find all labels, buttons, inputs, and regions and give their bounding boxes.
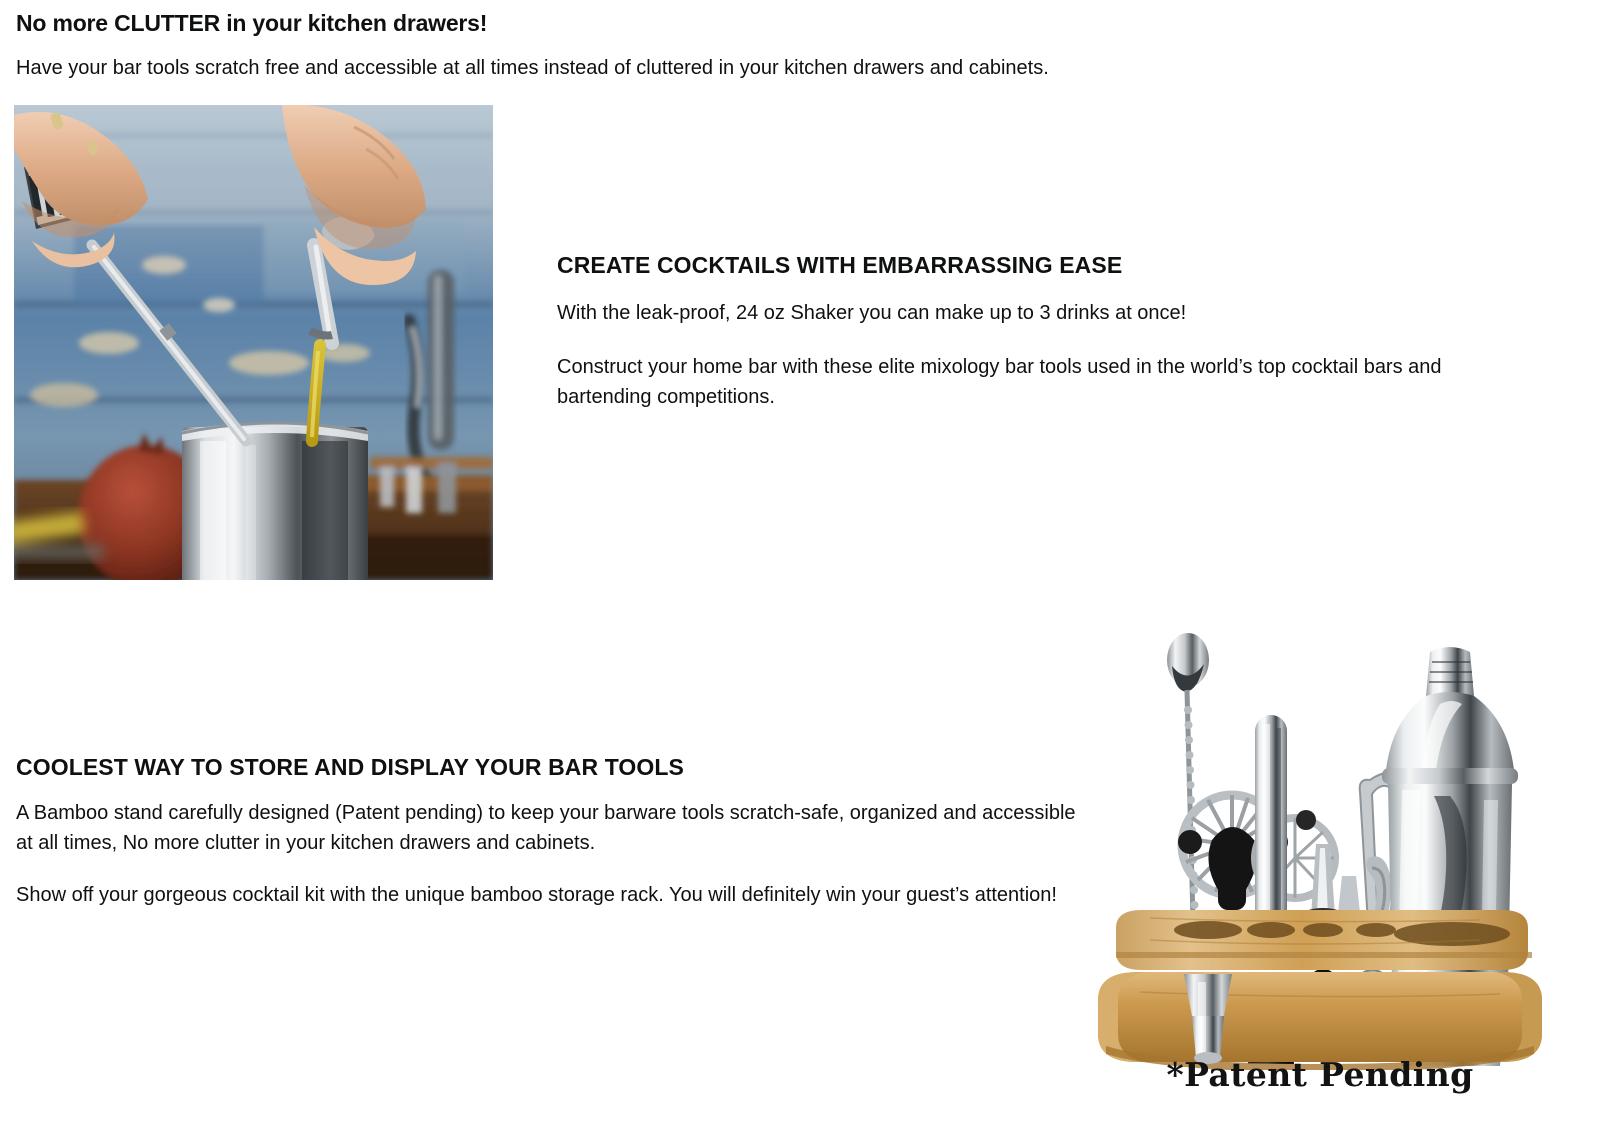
section-one-paragraph-1: With the leak-proof, 24 oz Shaker you ca… [557,298,1537,328]
page-subtitle: Have your bar tools scratch free and acc… [16,54,1049,82]
bartender-kit-svg [1080,600,1560,1070]
section-one-heading: CREATE COCKTAILS WITH EMBARRASSING EASE [557,250,1537,280]
patent-pending-caption: *Patent Pending [1105,1055,1535,1094]
bartender-kit-photo [1080,600,1560,1129]
page-title: No more CLUTTER in your kitchen drawers! [16,8,487,38]
aplus-content-page: No more CLUTTER in your kitchen drawers!… [0,0,1600,1129]
bartender-kit-illustration [1080,600,1560,1070]
section-one-text: CREATE COCKTAILS WITH EMBARRASSING EASE … [557,250,1537,412]
section-two-heading: COOLEST WAY TO STORE AND DISPLAY YOUR BA… [16,752,1076,782]
section-two-paragraph-1: A Bamboo stand carefully designed (Paten… [16,798,1076,858]
cocktail-pour-photo [14,105,493,580]
section-two-paragraph-2: Show off your gorgeous cocktail kit with… [16,880,1076,910]
section-one-paragraph-2: Construct your home bar with these elite… [557,352,1537,412]
cocktail-pour-illustration [14,105,493,580]
section-two-text: COOLEST WAY TO STORE AND DISPLAY YOUR BA… [16,752,1076,910]
